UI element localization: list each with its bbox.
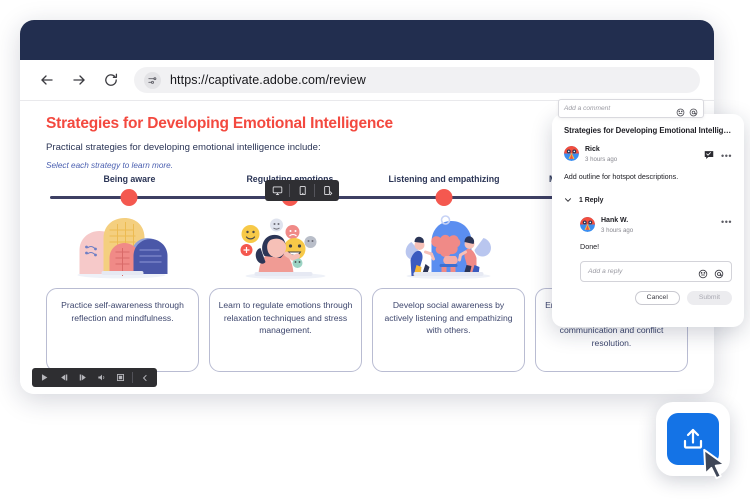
replies-count-label: 1 Reply xyxy=(579,197,604,204)
comment-panel-title: Strategies for Developing Emotional Inte… xyxy=(564,126,732,135)
comment-author-block: Rick 3 hours ago xyxy=(585,146,698,164)
device-preview-toggle xyxy=(265,180,339,201)
strategy-card[interactable]: Practice self-awareness through reflecti… xyxy=(46,288,199,372)
site-settings-icon[interactable] xyxy=(144,72,161,89)
browser-titlebar xyxy=(20,20,714,60)
reload-icon[interactable] xyxy=(102,71,120,89)
mention-icon[interactable] xyxy=(689,104,698,113)
more-options-icon[interactable]: ••• xyxy=(721,218,732,227)
replies-toggle[interactable]: 1 Reply xyxy=(564,191,732,209)
hotspot-label-3: Listening and empathizing xyxy=(389,174,500,184)
reply-buttons: Cancel Submit xyxy=(580,291,732,305)
emoji-icon[interactable] xyxy=(676,104,685,113)
slides-icon[interactable] xyxy=(111,368,130,387)
reply-body: Done! xyxy=(580,242,732,252)
mention-icon[interactable] xyxy=(714,266,724,276)
add-comment-bar[interactable]: Add a comment xyxy=(558,99,704,118)
screenshot-stage: https://captivate.adobe.com/review Strat… xyxy=(0,0,750,502)
reply-thread: Hank W. 3 hours ago ••• Done! Add a repl… xyxy=(580,217,732,305)
chevron-down-icon[interactable] xyxy=(564,191,572,209)
rewind-icon[interactable] xyxy=(54,368,73,387)
chevron-left-icon[interactable] xyxy=(135,368,154,387)
hotspot-marker-3[interactable] xyxy=(436,189,453,206)
reply-actions: ••• xyxy=(721,217,732,227)
strategy-card[interactable]: Develop social awareness by actively lis… xyxy=(372,288,525,372)
comment-timestamp: 3 hours ago xyxy=(585,156,698,164)
avatar xyxy=(564,146,579,161)
hotspot-label-1: Being aware xyxy=(104,174,156,184)
reply-author-block: Hank W. 3 hours ago xyxy=(601,217,715,235)
resolve-comment-icon[interactable] xyxy=(704,147,714,165)
address-bar[interactable]: https://captivate.adobe.com/review xyxy=(134,67,700,93)
reply-input-box[interactable]: Add a reply xyxy=(580,261,732,282)
comment-author: Rick xyxy=(585,146,698,155)
submit-button[interactable]: Submit xyxy=(687,291,732,305)
back-icon[interactable] xyxy=(38,71,56,89)
reply-header: Hank W. 3 hours ago ••• xyxy=(580,217,732,235)
url-text: https://captivate.adobe.com/review xyxy=(170,73,366,87)
hotspot-marker-1[interactable] xyxy=(121,189,138,206)
mobile-icon[interactable] xyxy=(315,180,339,201)
comment-body: Add outline for hotspot descriptions. xyxy=(564,172,732,182)
profiles-minds-illustration xyxy=(46,212,199,282)
reply-input[interactable]: Add a reply xyxy=(588,268,692,275)
forward-icon[interactable] xyxy=(73,368,92,387)
avatar xyxy=(580,217,595,232)
reply-timestamp: 3 hours ago xyxy=(601,227,715,235)
desktop-icon[interactable] xyxy=(265,180,289,201)
reply-author: Hank W. xyxy=(601,217,715,226)
heart-brain-people-illustration xyxy=(372,212,525,282)
browser-navbar: https://captivate.adobe.com/review xyxy=(20,60,714,101)
comment-actions: ••• xyxy=(704,146,732,165)
add-comment-input[interactable]: Add a comment xyxy=(564,105,672,112)
divider xyxy=(132,372,133,383)
emoji-icon[interactable] xyxy=(698,266,708,276)
tablet-icon[interactable] xyxy=(290,180,314,201)
comment-thread-panel: Strategies for Developing Emotional Inte… xyxy=(552,114,744,327)
woman-emoji-reactions-illustration xyxy=(209,212,362,282)
more-options-icon[interactable]: ••• xyxy=(721,152,732,161)
volume-icon[interactable] xyxy=(92,368,111,387)
comment-header: Rick 3 hours ago ••• xyxy=(564,146,732,165)
strategy-card[interactable]: Learn to regulate emotions through relax… xyxy=(209,288,362,372)
forward-icon[interactable] xyxy=(70,71,88,89)
player-controls xyxy=(32,368,157,387)
mouse-cursor xyxy=(700,448,730,484)
play-icon[interactable] xyxy=(35,368,54,387)
cancel-button[interactable]: Cancel xyxy=(635,291,680,305)
